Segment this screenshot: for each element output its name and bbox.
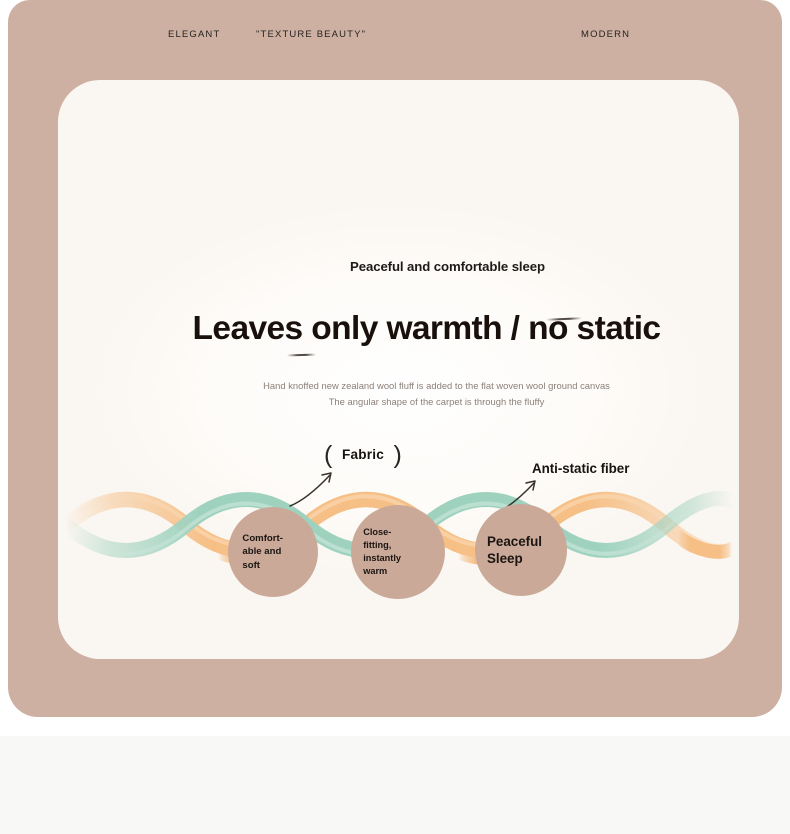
kicker-elegant: ELEGANT [168,29,220,40]
inner-content-card: Peaceful and comfortable sleep Leaves on… [58,80,739,659]
kicker-modern: MODERN [581,29,630,40]
benefit-line: Close- [363,526,401,539]
benefit-circle-peaceful-sleep-text: Peaceful Sleep [475,533,542,567]
paren-right: ) [393,444,402,466]
benefit-line: Sleep [487,550,542,567]
brush-dash-decoration-bottom [287,354,316,357]
outer-beige-panel: ELEGANT "TEXTURE BEAUTY" MODERN Peaceful… [8,0,782,717]
headline-text: Leaves only warmth / no static [193,310,661,347]
subcopy-line-2: The angular shape of the carpet is throu… [96,394,739,410]
benefit-line: soft [242,559,283,572]
benefit-line: able and [242,545,283,558]
eyebrow-heading: Peaceful and comfortable sleep [58,259,739,274]
benefit-circle-close-fitting: Close- fitting, instantly warm [351,505,445,599]
kicker-row: ELEGANT "TEXTURE BEAUTY" MODERN [16,29,790,47]
benefit-line: warm [363,565,401,578]
benefit-circle-peaceful-sleep: Peaceful Sleep [475,504,567,596]
callout-fabric: ( Fabric ) [328,447,398,462]
page-bottom-strip [0,736,790,834]
kicker-texture-beauty: "TEXTURE BEAUTY" [256,29,366,40]
benefit-line: instantly [363,552,401,565]
benefit-line: Comfort- [242,532,283,545]
eyebrow-text: Peaceful and comfortable sleep [350,259,545,274]
benefit-circle-comfortable: Comfort- able and soft [228,507,318,597]
callout-fabric-label: Fabric [342,447,384,462]
page-title: Leaves only warmth / no static [58,310,739,348]
subcopy-block: Hand knoffed new zealand wool fluff is a… [58,378,739,410]
benefit-line: Peaceful [487,533,542,550]
product-detail-image: ELEGANT "TEXTURE BEAUTY" MODERN Peaceful… [0,0,790,834]
curved-arrow-up-right-icon [284,462,346,515]
subcopy-line-1: Hand knoffed new zealand wool fluff is a… [96,378,739,394]
benefit-circle-comfortable-text: Comfort- able and soft [228,532,283,572]
benefit-circle-close-fitting-text: Close- fitting, instantly warm [351,526,401,578]
benefit-line: fitting, [363,539,401,552]
